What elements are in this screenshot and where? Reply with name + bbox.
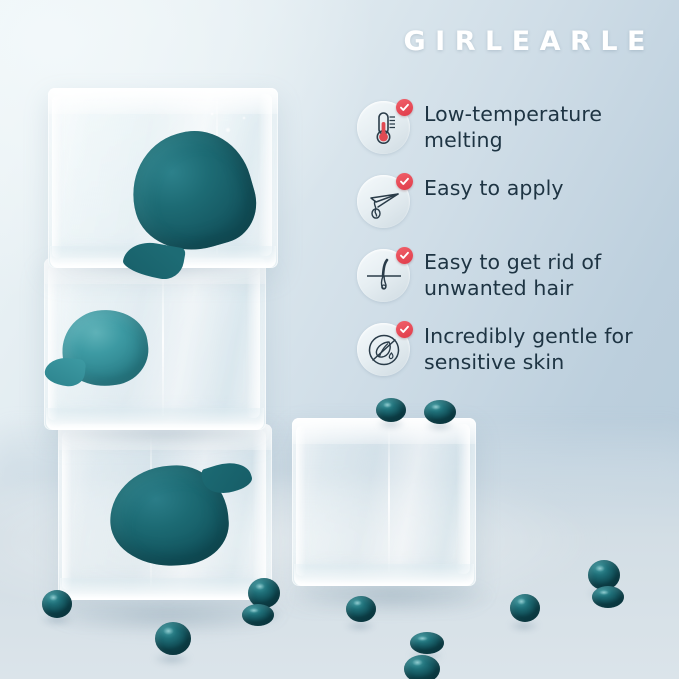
wax-bead xyxy=(510,594,540,622)
feature-item-remove-hair[interactable]: Easy to get rid of unwanted hair xyxy=(357,248,675,302)
cube-middle xyxy=(44,258,266,430)
cube-bottom xyxy=(58,424,272,600)
feature-label: Incredibly gentle for sensitive skin xyxy=(424,322,675,376)
check-badge-icon xyxy=(396,247,413,264)
feature-item-easy-to-apply[interactable]: Easy to apply xyxy=(357,174,675,228)
cube-top xyxy=(48,88,278,268)
feature-label: Low-temperature melting xyxy=(424,100,675,154)
check-badge-icon xyxy=(396,321,413,338)
wax-bead xyxy=(42,590,72,618)
wax-bead xyxy=(410,632,444,654)
wax-bead xyxy=(424,400,456,424)
feature-icon-wrap xyxy=(357,323,410,376)
wax-bead xyxy=(376,398,406,422)
feature-item-low-temperature[interactable]: Low-temperature melting xyxy=(357,100,675,154)
check-badge-icon xyxy=(396,173,413,190)
check-badge-icon xyxy=(396,99,413,116)
feature-label: Easy to apply xyxy=(424,174,564,202)
brand-wordmark: GIRLEARLE xyxy=(404,26,655,57)
wax-bead xyxy=(242,604,274,626)
cube-right xyxy=(292,418,476,586)
wax-bead xyxy=(592,586,624,608)
wax-bead xyxy=(155,622,191,655)
feature-label: Easy to get rid of unwanted hair xyxy=(424,248,675,302)
wax-bead xyxy=(346,596,376,622)
feature-item-gentle-skin[interactable]: Incredibly gentle for sensitive skin xyxy=(357,322,675,376)
feature-list: Low-temperature melting Easy to apply xyxy=(357,100,675,396)
wax-bead xyxy=(404,655,440,679)
feature-icon-wrap xyxy=(357,249,410,302)
feature-icon-wrap xyxy=(357,175,410,228)
feature-icon-wrap xyxy=(357,101,410,154)
product-marketing-image: GIRLEARLE xyxy=(0,0,679,679)
